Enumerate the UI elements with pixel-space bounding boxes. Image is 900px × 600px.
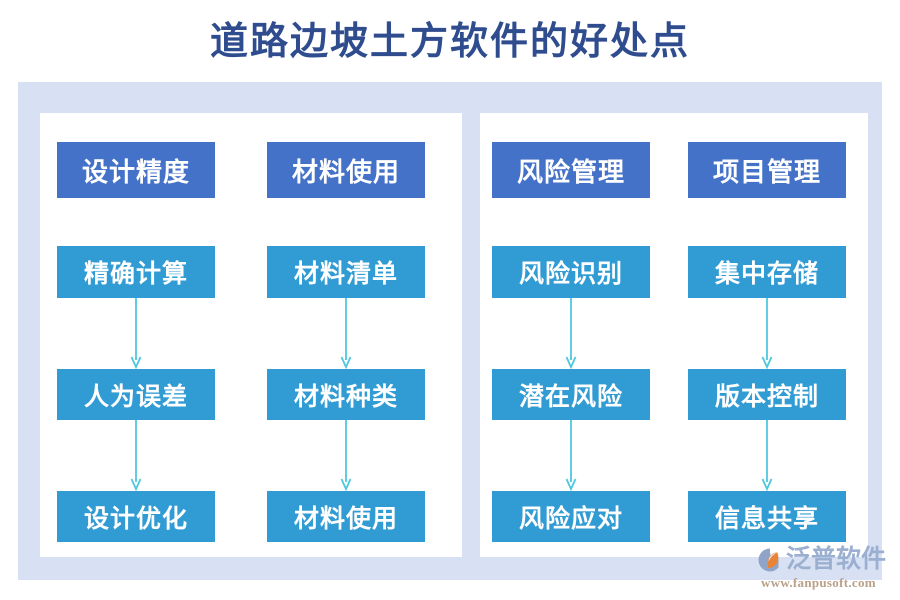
node-box-0-1[interactable]: 人为误差 [57, 369, 215, 420]
node-box-1-1[interactable]: 材料种类 [267, 369, 425, 420]
node-box-0-2[interactable]: 设计优化 [57, 491, 215, 542]
node-box-0-0[interactable]: 精确计算 [57, 246, 215, 298]
node-box-3-2[interactable]: 信息共享 [688, 491, 846, 542]
arrow-0-2 [129, 420, 143, 491]
arrow-2-2 [564, 420, 578, 491]
node-box-1-0[interactable]: 材料清单 [267, 246, 425, 298]
column-material-usage: 材料使用 材料清单 材料种类 材料使用 [267, 142, 425, 542]
header-box-1[interactable]: 材料使用 [267, 142, 425, 198]
arrow-1-2 [339, 420, 353, 491]
node-box-3-1[interactable]: 版本控制 [688, 369, 846, 420]
flowchart-page: 道路边坡土方软件的好处点 设计精度 精确计算 人为误差 设计优化 材料使用 材料… [0, 0, 900, 600]
node-box-2-0[interactable]: 风险识别 [492, 246, 650, 298]
column-project-management: 项目管理 集中存储 版本控制 信息共享 [688, 142, 846, 542]
brand-watermark: 泛普软件 www.fanpusoft.com [757, 546, 895, 590]
header-box-3[interactable]: 项目管理 [688, 142, 846, 198]
arrow-3-1 [760, 298, 774, 369]
brand-url: www.fanpusoft.com [761, 575, 895, 591]
header-box-0[interactable]: 设计精度 [57, 142, 215, 198]
header-box-2[interactable]: 风险管理 [492, 142, 650, 198]
arrow-3-2 [760, 420, 774, 491]
page-title: 道路边坡土方软件的好处点 [0, 16, 900, 68]
node-box-1-2[interactable]: 材料使用 [267, 491, 425, 542]
arrow-0-1 [129, 298, 143, 369]
column-risk-management: 风险管理 风险识别 潜在风险 风险应对 [492, 142, 650, 542]
node-box-2-2[interactable]: 风险应对 [492, 491, 650, 542]
fanpu-logo-icon [757, 547, 783, 573]
node-box-2-1[interactable]: 潜在风险 [492, 369, 650, 420]
brand-name: 泛普软件 [786, 547, 886, 573]
node-box-3-0[interactable]: 集中存储 [688, 246, 846, 298]
column-design-accuracy: 设计精度 精确计算 人为误差 设计优化 [57, 142, 215, 542]
arrow-2-1 [564, 298, 578, 369]
arrow-1-1 [339, 298, 353, 369]
